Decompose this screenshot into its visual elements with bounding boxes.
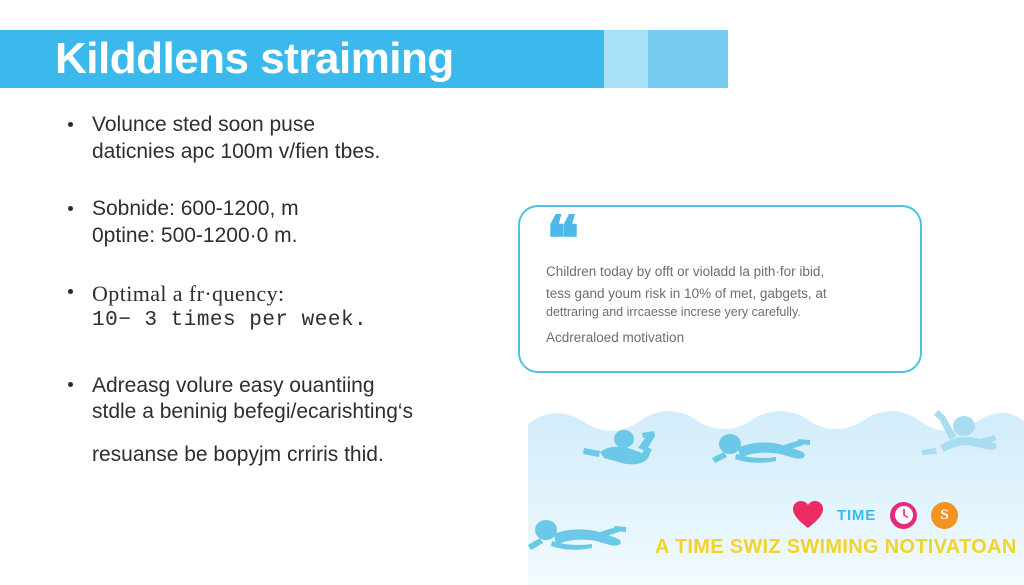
quote-line: dettraring and irrcaesse increse yery ca… (546, 305, 898, 321)
bullet-line: Optimal a fr·quency: (92, 280, 492, 308)
title-banner-main-segment: Kilddlens straiming (0, 30, 604, 88)
title-banner: Kilddlens straiming (0, 30, 728, 88)
list-item: Sobnide: 600-1200, m 0ptine: 500-1200·0 … (62, 196, 492, 250)
heart-icon (793, 501, 823, 529)
bullet-line: Adreasg volure easy ouantiing (92, 373, 492, 400)
bullet-dot-icon (68, 382, 73, 387)
list-item: Adreasg volure easy ouantiing stdle a be… (62, 373, 492, 470)
clock-icon (890, 502, 917, 529)
quote-line: tess gand youm risk in 10% of met, gabge… (546, 283, 898, 305)
time-label: TIME (837, 507, 876, 524)
bullet-list: Volunce sted soon puse daticnies apc 100… (62, 112, 492, 469)
bullet-line: 0ptine: 500-1200·0 m. (92, 223, 492, 250)
page-title: Kilddlens straiming (0, 37, 454, 81)
bullet-line: daticnies apc 100m v/fien tbes. (92, 139, 492, 166)
icon-row: TIME S (793, 499, 958, 531)
bullet-dot-icon (68, 206, 73, 211)
bullet-line: stdle a beninig befegi/ecarishting‘s (92, 399, 492, 426)
quote-mark-icon: ❝ (546, 221, 898, 261)
bullet-line: Volunce sted soon puse (92, 112, 492, 139)
bullet-dot-icon (68, 122, 73, 127)
list-item: Volunce sted soon puse daticnies apc 100… (62, 112, 492, 166)
bullet-line: resuanse be bopyјm crriris thid. (92, 442, 492, 469)
quote-line: Acdreraloed motivation (546, 327, 898, 349)
quote-line: Children today by offt or violadd la pit… (546, 261, 898, 283)
bullet-dot-icon (68, 289, 73, 294)
slide-canvas: Kilddlens straiming Volunce sted soon pu… (0, 0, 1024, 585)
bullet-line: Sobnide: 600-1200, m (92, 196, 492, 223)
title-banner-mid-segment (648, 30, 728, 88)
title-banner-light-segment (604, 30, 648, 88)
quote-card: ❝ Children today by offt or violadd la p… (518, 205, 922, 373)
s-badge-icon: S (931, 502, 958, 529)
list-item: Optimal a fr·quency: 10− 3 times per wee… (62, 280, 492, 335)
bottom-caption: A TIME SWIZ SWIMING NOTIVATOAN (655, 536, 1017, 559)
bullet-line: 10− 3 times per week. (92, 308, 492, 335)
